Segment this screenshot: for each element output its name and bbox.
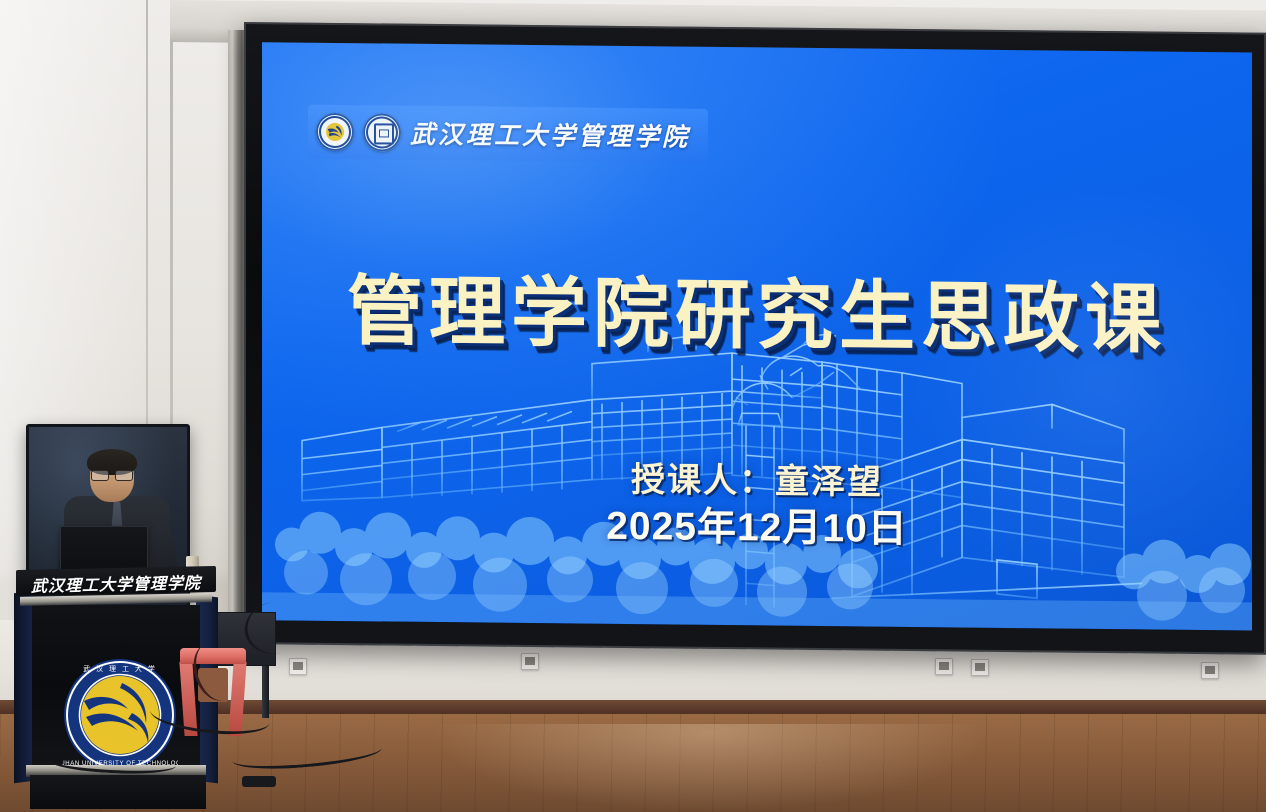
presentation-screen[interactable]: 武汉理工大学管理学院 管理学院研究生思政课 授课人：童泽望 2025年12月10…: [262, 42, 1252, 630]
svg-text:武 汉 理 工 大 学: 武 汉 理 工 大 学: [83, 664, 157, 673]
school-of-management-seal-icon: [363, 113, 401, 151]
podium-left-edge: [14, 591, 34, 783]
cable-connector: [242, 776, 276, 787]
wall-socket-icon: [289, 658, 307, 675]
podium-front-panel: 武 汉 理 工 大 学 WUHAN UNIVERSITY OF TECHNOLO…: [32, 605, 200, 765]
wall-socket-icon: [971, 659, 989, 676]
slide-subtitle-block: 授课人：童泽望 2025年12月10日: [262, 456, 1252, 556]
presenter-laptop[interactable]: [60, 526, 148, 572]
presentation-screen-frame: 武汉理工大学管理学院 管理学院研究生思政课 授课人：童泽望 2025年12月10…: [244, 22, 1266, 655]
slide-title: 管理学院研究生思政课: [262, 248, 1252, 368]
floor-light-reflection: [430, 724, 990, 812]
lecture-hall-photo: 武汉理工大学管理学院 管理学院研究生思政课 授课人：童泽望 2025年12月10…: [0, 0, 1266, 812]
podium-nameplate-label: 武汉理工大学管理学院: [16, 569, 216, 597]
glasses-icon: [91, 470, 133, 480]
title-slide: 武汉理工大学管理学院 管理学院研究生思政课 授课人：童泽望 2025年12月10…: [262, 42, 1252, 630]
slide-header-logo-bar: 武汉理工大学管理学院: [308, 105, 708, 163]
wut-swoosh-seal-icon: [316, 113, 354, 151]
wall-socket-icon: [935, 658, 953, 675]
wall-socket-icon: [1201, 662, 1219, 679]
slide-institution-label: 武汉理工大学管理学院: [410, 115, 690, 154]
podium-base: [30, 775, 206, 809]
lectern-podium: 武 汉 理 工 大 学 WUHAN UNIVERSITY OF TECHNOLO…: [28, 568, 204, 812]
podium-nameplate: 武汉理工大学管理学院: [16, 566, 216, 596]
wall-socket-icon: [521, 653, 539, 670]
